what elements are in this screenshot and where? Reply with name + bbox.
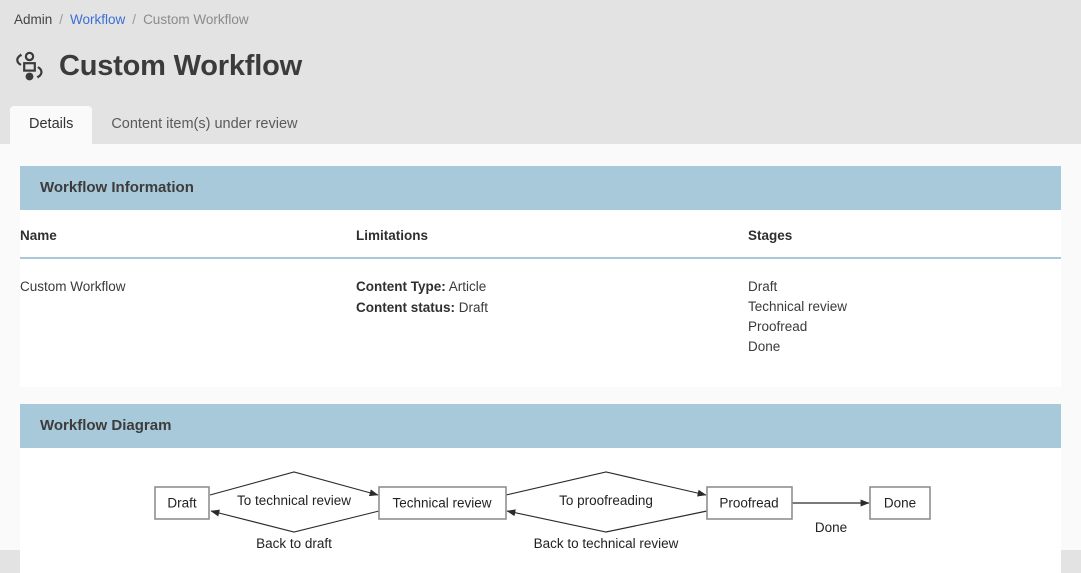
edge-technical-review-to-proofread xyxy=(506,472,706,495)
main-content: Workflow Information Name Limitations St… xyxy=(0,144,1081,550)
page-title: Custom Workflow xyxy=(59,49,302,83)
edge-proofread-to-technical-review xyxy=(507,511,707,532)
workflow-information-body: Name Limitations Stages Custom Workflow … xyxy=(20,210,1061,387)
stage-item: Technical review xyxy=(748,297,1061,317)
edge-label-back-to-draft: Back to draft xyxy=(256,536,332,551)
tab-details[interactable]: Details xyxy=(10,106,92,144)
column-header-name: Name xyxy=(20,210,356,258)
breadcrumb: Admin / Workflow / Custom Workflow xyxy=(0,0,1081,28)
workflow-diagram-svg: Draft Technical review Proofread Done xyxy=(20,448,1061,573)
workflow-icon xyxy=(12,49,46,83)
tab-bar: Details Content item(s) under review xyxy=(0,106,1081,144)
stage-item: Done xyxy=(748,337,1061,357)
breadcrumb-item-admin[interactable]: Admin xyxy=(14,12,52,27)
breadcrumb-item-workflow[interactable]: Workflow xyxy=(70,12,125,27)
diagram-node-draft-label: Draft xyxy=(167,496,197,511)
tab-content-items-under-review[interactable]: Content item(s) under review xyxy=(92,106,316,144)
diagram-node-done[interactable]: Done xyxy=(870,487,930,519)
diagram-node-technical-review[interactable]: Technical review xyxy=(379,487,506,519)
edge-technical-review-to-draft xyxy=(211,511,379,532)
breadcrumb-separator: / xyxy=(132,12,136,27)
diagram-node-proofread[interactable]: Proofread xyxy=(707,487,792,519)
page-title-row: Custom Workflow xyxy=(0,28,1081,90)
edge-label-to-proofreading: To proofreading xyxy=(559,493,653,508)
diagram-node-draft[interactable]: Draft xyxy=(155,487,209,519)
cell-limitations: Content Type: Article Content status: Dr… xyxy=(356,258,748,387)
limitation-value: Article xyxy=(449,279,487,294)
edge-draft-to-technical-review xyxy=(210,472,378,495)
workflow-information-title: Workflow Information xyxy=(20,166,1061,210)
diagram-node-proofread-label: Proofread xyxy=(719,496,778,511)
workflow-information-card: Workflow Information Name Limitations St… xyxy=(20,166,1061,387)
limitation-label: Content Type: xyxy=(356,279,446,294)
breadcrumb-item-current: Custom Workflow xyxy=(143,12,249,27)
edge-label-back-to-technical-review: Back to technical review xyxy=(534,536,679,551)
column-header-limitations: Limitations xyxy=(356,210,748,258)
stage-item: Proofread xyxy=(748,317,1061,337)
diagram-node-technical-review-label: Technical review xyxy=(392,496,491,511)
limitation-value: Draft xyxy=(459,300,488,315)
table-header-row: Name Limitations Stages xyxy=(20,210,1061,258)
stage-item: Draft xyxy=(748,277,1061,297)
limitation-content-status: Content status: Draft xyxy=(356,298,748,318)
cell-stages: Draft Technical review Proofread Done xyxy=(748,258,1061,387)
column-header-stages: Stages xyxy=(748,210,1061,258)
table-row: Custom Workflow Content Type: Article Co… xyxy=(20,258,1061,387)
edge-label-to-technical-review: To technical review xyxy=(237,493,351,508)
edge-label-done: Done xyxy=(815,520,847,535)
limitation-label: Content status: xyxy=(356,300,455,315)
workflow-diagram-title: Workflow Diagram xyxy=(20,404,1061,448)
workflow-diagram-body: Draft Technical review Proofread Done xyxy=(20,448,1061,573)
workflow-diagram-card: Workflow Diagram xyxy=(20,404,1061,573)
workflow-information-table: Name Limitations Stages Custom Workflow … xyxy=(20,210,1061,387)
diagram-node-done-label: Done xyxy=(884,496,916,511)
breadcrumb-separator: / xyxy=(59,12,63,27)
cell-name: Custom Workflow xyxy=(20,258,356,387)
limitation-content-type: Content Type: Article xyxy=(356,277,748,297)
